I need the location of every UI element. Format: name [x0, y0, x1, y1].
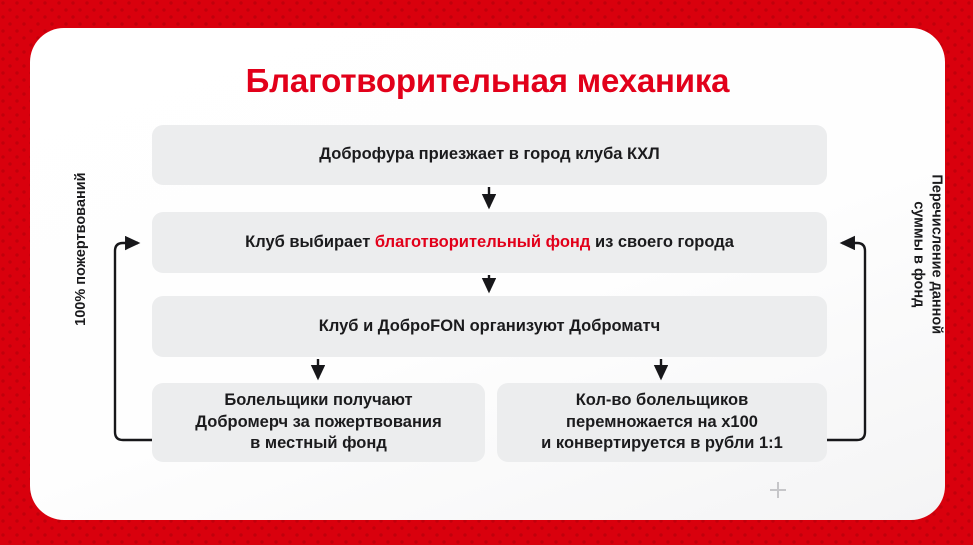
flow-node-3-label: Клуб и ДоброFON организуют Доброматч [319, 316, 660, 338]
right-loop-label: Перечисление данной суммы в фонд [909, 139, 945, 369]
flow-node-5-line-1: Кол-во болельщиков [576, 391, 749, 409]
flow-node-2-text-after: из своего города [590, 233, 734, 251]
flow-node-5-line-3: и конвертируется в рубли 1:1 [541, 434, 783, 452]
flow-node-1[interactable]: Доброфура приезжает в город клуба КХЛ [152, 125, 827, 185]
flow-node-5-label: Кол-во болельщиков перемножается на х100… [541, 390, 783, 455]
flow-node-2[interactable]: Клуб выбирает благотворительный фонд из … [152, 212, 827, 273]
page-title: Благотворительная механика [30, 62, 945, 100]
flow-node-1-label: Доброфура приезжает в город клуба КХЛ [319, 144, 659, 166]
flow-node-2-label: Клуб выбирает благотворительный фонд из … [245, 232, 734, 254]
left-loop-label: 100% пожертвований [72, 134, 90, 364]
flow-node-4-line-3: в местный фонд [250, 434, 387, 452]
slide-canvas: Благотворительная механика Доброфура [0, 0, 973, 545]
flow-node-4[interactable]: Болельщики получают Добромерч за пожертв… [152, 383, 485, 462]
flow-node-2-highlight: благотворительный фонд [375, 233, 590, 251]
flow-node-5-line-2: перемножается на х100 [566, 413, 758, 431]
right-loop-label-line-2: суммы в фонд [910, 201, 926, 307]
flow-node-3[interactable]: Клуб и ДоброFON организуют Доброматч [152, 296, 827, 357]
content-card: Благотворительная механика Доброфура [30, 28, 945, 520]
flow-node-2-text-before: Клуб выбирает [245, 233, 375, 251]
right-loop-label-line-1: Перечисление данной [928, 174, 944, 334]
flow-node-4-label: Болельщики получают Добромерч за пожертв… [195, 390, 441, 455]
registration-crosshair-icon [770, 482, 786, 498]
flow-node-5[interactable]: Кол-во болельщиков перемножается на х100… [497, 383, 827, 462]
left-loop-label-text: 100% пожертвований [73, 172, 89, 325]
flow-node-4-line-2: Добромерч за пожертвования [195, 413, 441, 431]
flow-node-4-line-1: Болельщики получают [224, 391, 412, 409]
